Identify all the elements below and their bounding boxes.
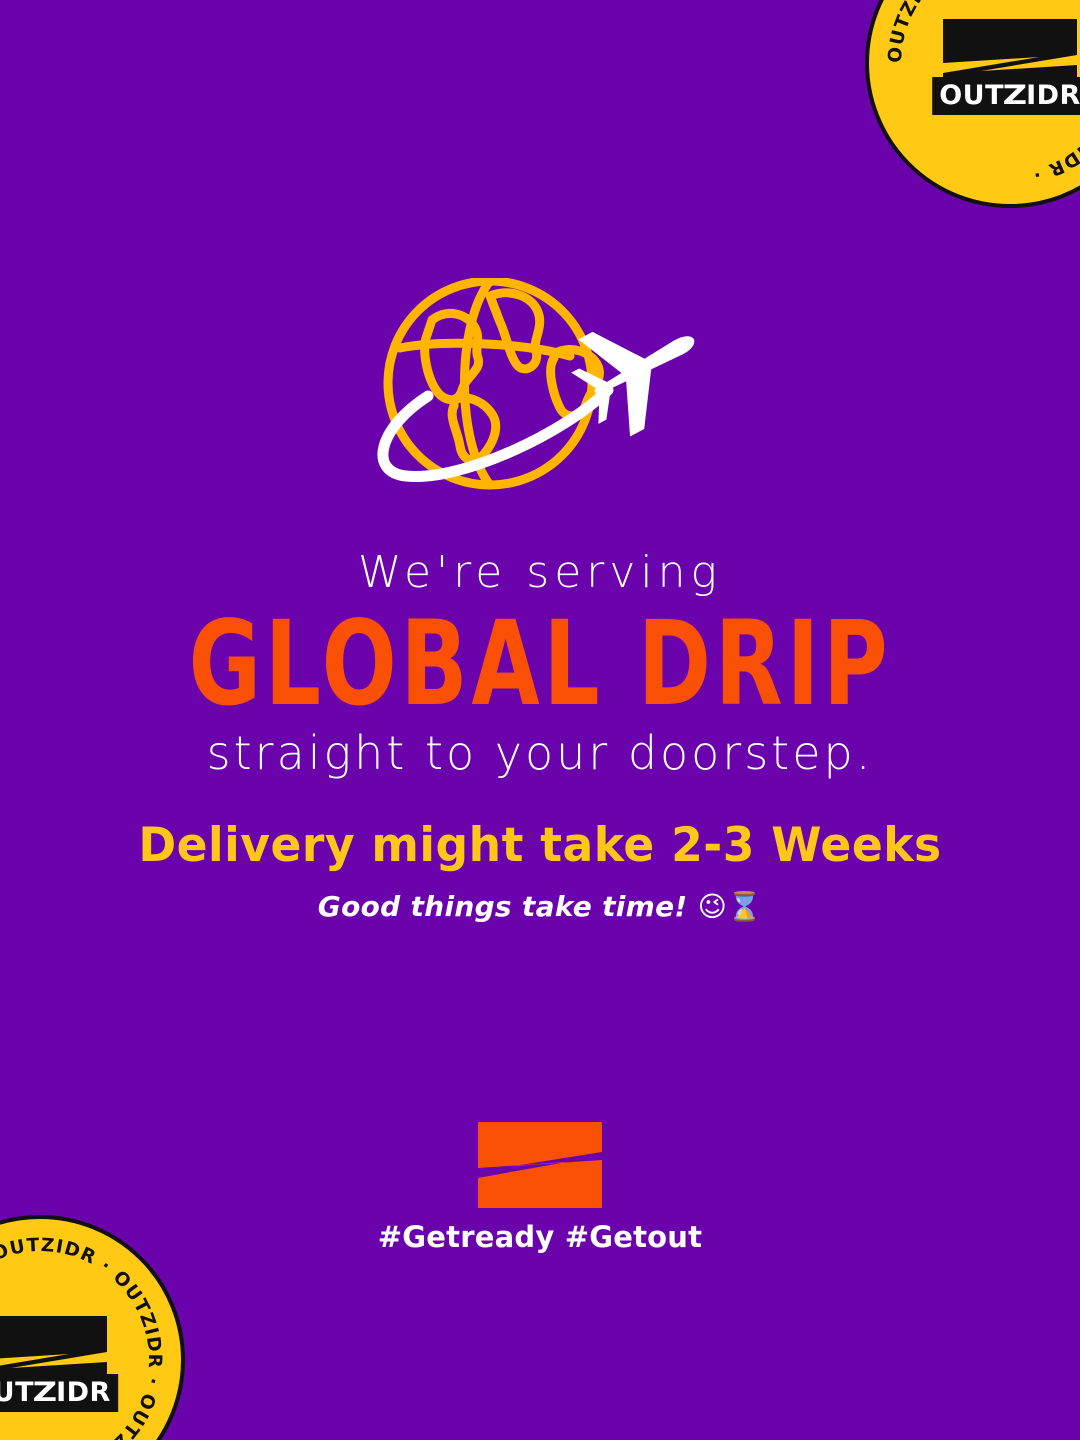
globe-continent-left [425,313,479,399]
hero-art-svg [370,278,710,498]
delivery-reassurance-text: Good things take time! [318,890,688,923]
wink-hourglass-emoji: 😉⌛ [698,890,763,923]
promo-poster: OUTZIDR · OUTZIDR · OUTZIDR · OUTZIDR · … [0,0,1080,1440]
headline-eyebrow: We're serving [40,548,1040,599]
headline-block: We're serving GLOBAL DRIP straight to yo… [0,548,1080,779]
badge-wordmark-tr: OUTZIDR [932,77,1080,115]
badge-wordmark-bl: OUTZIDR [0,1374,118,1412]
brand-badge-top-right: OUTZIDR · OUTZIDR · OUTZIDR · OUTZIDR · … [865,0,1080,208]
badge-z-wrap-tr: OUTZIDR [935,15,1080,111]
badge-wordmark-left-bl: OUT [0,1377,34,1408]
badge-z-wrap-bl: OUTZIDR [0,1312,115,1408]
globe-airplane-illustration [0,278,1080,498]
badge-wordmark-z-bl: Z [32,1379,57,1406]
delivery-notice: Delivery might take 2-3 Weeks [45,820,1034,872]
delivery-reassurance: Good things take time! 😉⌛ [30,890,1050,924]
headline-subline: straight to your doorstep. [40,727,1040,780]
headline-main: GLOBAL DRIP [80,605,1000,722]
badge-wordmark-z-tr: Z [1002,82,1027,109]
brand-badge-bottom-left: OUTZIDR · OUTZIDR · OUTZIDR · OUTZIDR · … [0,1215,185,1440]
badge-wordmark-left-tr: OUT [939,80,1004,111]
brand-z-logo-icon [478,1122,602,1208]
badge-core-tr: OUTZIDR [935,15,1080,111]
delivery-notice-block: Delivery might take 2-3 Weeks Good thing… [0,820,1080,923]
badge-wordmark-right-tr: IDR [1026,80,1080,111]
badge-wordmark-right-bl: IDR [56,1377,111,1408]
badge-core-bl: OUTZIDR [0,1312,115,1408]
globe-continent-top [490,293,540,369]
